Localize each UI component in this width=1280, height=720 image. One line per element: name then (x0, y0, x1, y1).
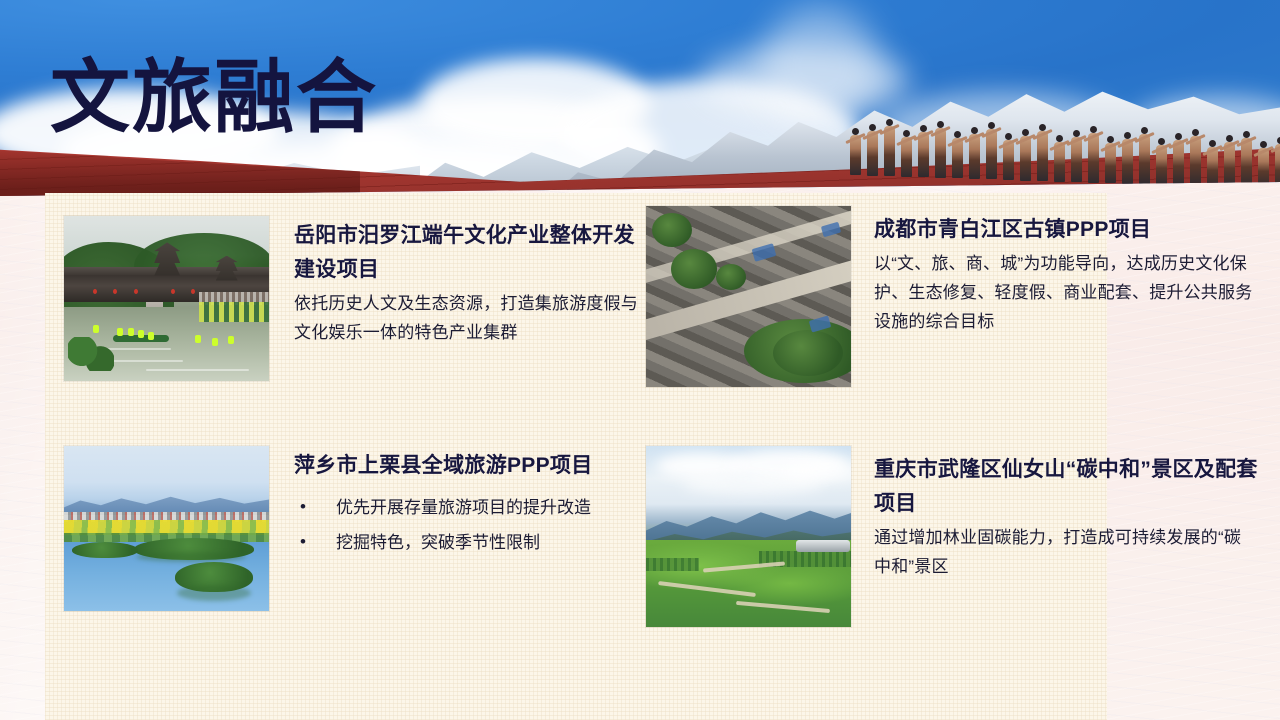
project-text-2: 成都市青白江区古镇PPP项目 以“文、旅、商、城”为功能导向，达成历史文化保护、… (852, 205, 1254, 337)
project-title-1: 岳阳市汨罗江端午文化产业整体开发建设项目 (294, 219, 643, 287)
project-card-3[interactable]: 萍乡市上栗县全域旅游PPP项目 优先开展存量旅游项目的提升改造挖掘特色，突破季节… (63, 445, 643, 612)
dancer-figure (935, 128, 946, 178)
project-card-1[interactable]: 岳阳市汨罗江端午文化产业整体开发建设项目 依托历史人文及生态资源，打造集旅游度假… (63, 215, 643, 382)
island-shape (72, 542, 138, 558)
dancer-row (850, 117, 1280, 201)
dancer-figure (1173, 140, 1184, 185)
dancer-figure (884, 126, 895, 176)
boat-crew (117, 328, 123, 336)
foliage-shape (68, 337, 114, 371)
boat-crew (195, 335, 201, 343)
boat-crew (128, 328, 134, 336)
dancer-figure (918, 132, 929, 177)
dancer-figure (1054, 142, 1065, 182)
project-bullets-3: 优先开展存量旅游项目的提升改造挖掘特色，突破季节性限制 (294, 491, 593, 561)
dancer-figure (1241, 138, 1252, 188)
project-card-grid: 岳阳市汨罗江端午文化产业整体开发建设项目 依托历史人文及生态资源，打造集旅游度假… (45, 193, 1280, 720)
dancer-figure (1190, 136, 1201, 186)
boat-crew (148, 332, 154, 340)
dancer-figure (1275, 144, 1280, 189)
tree-shape (773, 330, 843, 376)
project-title-4: 重庆市武隆区仙女山“碳中和”景区及配套项目 (874, 453, 1265, 521)
project-bullet-item: 优先开展存量旅游项目的提升改造 (294, 491, 593, 526)
dancer-figure (1207, 147, 1218, 187)
ancient-town-photo (646, 206, 851, 387)
lantern-icon (93, 289, 97, 294)
dancer-figure (1156, 145, 1167, 185)
dancer-figure (1258, 148, 1269, 188)
dancer-figure (1224, 142, 1235, 187)
dancer-figure (1122, 139, 1133, 184)
water-reflection (177, 585, 251, 601)
lantern-icon (171, 289, 175, 294)
project-card-2[interactable]: 成都市青白江区古镇PPP项目 以“文、旅、商、城”为功能导向，达成历史文化保护、… (645, 205, 1265, 388)
dancer-figure (1003, 140, 1014, 180)
far-mountain-range (646, 500, 851, 540)
tree-shape (716, 264, 746, 290)
project-text-1: 岳阳市汨罗江端午文化产业整体开发建设项目 依托历史人文及生态资源，打造集旅游度假… (270, 215, 643, 348)
dancer-figure (850, 135, 861, 175)
project-desc-2: 以“文、旅、商、城”为功能导向，达成历史文化保护、生态修复、轻度假、商业配套、提… (874, 249, 1254, 337)
lantern-icon (191, 289, 195, 294)
project-thumbnail-1 (63, 215, 270, 382)
water-reflection (136, 552, 246, 562)
project-thumbnail-3 (63, 445, 270, 612)
project-title-3: 萍乡市上栗县全域旅游PPP项目 (294, 449, 593, 483)
dancer-figure (1139, 134, 1150, 184)
boat-crew (228, 336, 234, 344)
lantern-icon (113, 289, 117, 294)
boat-crew (138, 330, 144, 338)
dancer-figure (969, 134, 980, 179)
boat-crew (93, 325, 99, 333)
resort-building (796, 540, 850, 552)
project-thumbnail-4 (645, 445, 852, 628)
dancer-figure (986, 129, 997, 179)
lantern-icon (134, 289, 138, 294)
dancer-figure (1020, 136, 1031, 181)
dancer-figure (1088, 133, 1099, 183)
cloud-shape (683, 475, 823, 495)
dancer-figure (1037, 131, 1048, 181)
dancer-figure (1105, 143, 1116, 183)
boat-crew (212, 338, 218, 346)
dancer-figure (952, 138, 963, 178)
tree-grove (646, 558, 699, 571)
project-card-4[interactable]: 重庆市武隆区仙女山“碳中和”景区及配套项目 通过增加林业固碳能力，打造成可持续发… (645, 445, 1265, 628)
dancer-figure (901, 137, 912, 177)
lake-village-photo (64, 446, 269, 611)
project-desc-4: 通过增加林业固碳能力，打造成可持续发展的“碳中和”景区 (874, 523, 1254, 581)
project-thumbnail-2 (645, 205, 852, 388)
green-meadow-photo (646, 446, 851, 627)
project-title-2: 成都市青白江区古镇PPP项目 (874, 213, 1254, 247)
dancer-figure (867, 131, 878, 176)
page-title: 文旅融合 (50, 58, 378, 138)
project-bullet-item: 挖掘特色，突破季节性限制 (294, 526, 593, 561)
dragon-boat-photo (64, 216, 269, 381)
riverbank-strip (199, 302, 269, 322)
project-desc-1: 依托历史人文及生态资源，打造集旅游度假与文化娱乐一体的特色产业集群 (294, 289, 643, 347)
project-text-4: 重庆市武隆区仙女山“碳中和”景区及配套项目 通过增加林业固碳能力，打造成可持续发… (852, 445, 1265, 582)
project-text-3: 萍乡市上栗县全域旅游PPP项目 优先开展存量旅游项目的提升改造挖掘特色，突破季节… (270, 445, 593, 561)
tree-shape (671, 249, 717, 289)
dancer-figure (1071, 137, 1082, 182)
